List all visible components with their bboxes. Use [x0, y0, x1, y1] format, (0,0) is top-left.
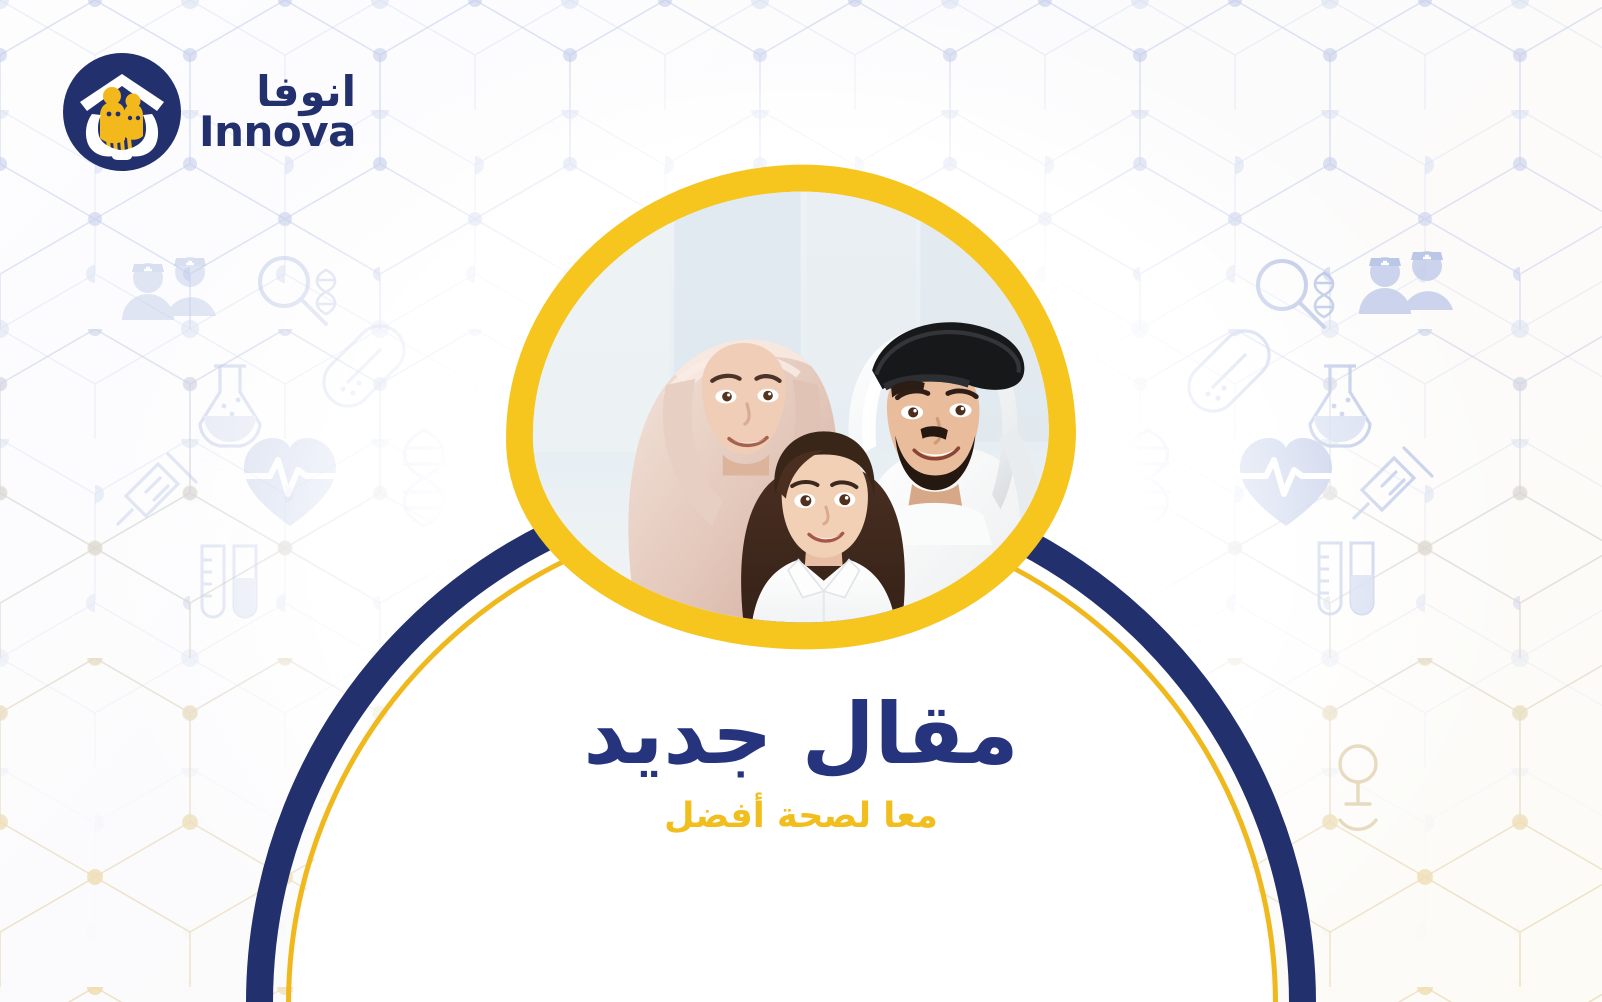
syringe-icon: [118, 454, 196, 524]
doctors-pair-icon: [1359, 251, 1453, 314]
family-photo-illustration: [525, 183, 1056, 632]
pill-capsule-icon: [1189, 331, 1269, 411]
headline-block: مقال جديد معا لصحة أفضل: [0, 690, 1602, 836]
pill-capsule-icon: [324, 326, 404, 406]
flask-icon: [200, 366, 260, 446]
syringe-icon: [1354, 448, 1432, 518]
dna-helix-icon: [404, 430, 444, 526]
heart-pulse-icon: [1240, 438, 1332, 526]
test-tubes-icon: [1319, 543, 1373, 614]
magnifier-dna-icon: [260, 258, 335, 324]
brand-logo[interactable]: انوفا Innova: [62, 52, 356, 172]
page-subtitle: معا لصحة أفضل: [0, 796, 1602, 836]
poster-canvas: انوفا Innova مقال جديد معا لصحة أفضل: [0, 0, 1602, 1002]
family-photo: [505, 165, 1075, 650]
doctors-pair-icon: [122, 257, 216, 320]
brand-wordmark: انوفا Innova: [199, 71, 356, 153]
photo-clip: [525, 183, 1056, 632]
family-house-in-hands-icon: [62, 52, 182, 172]
test-tubes-icon: [202, 546, 256, 617]
magnifier-dna-icon: [1258, 261, 1333, 327]
dna-helix-icon: [1128, 430, 1168, 526]
page-title: مقال جديد: [0, 690, 1602, 778]
flask-icon: [1310, 366, 1370, 446]
heart-pulse-icon: [244, 438, 336, 526]
brand-name-english: Innova: [199, 111, 356, 153]
